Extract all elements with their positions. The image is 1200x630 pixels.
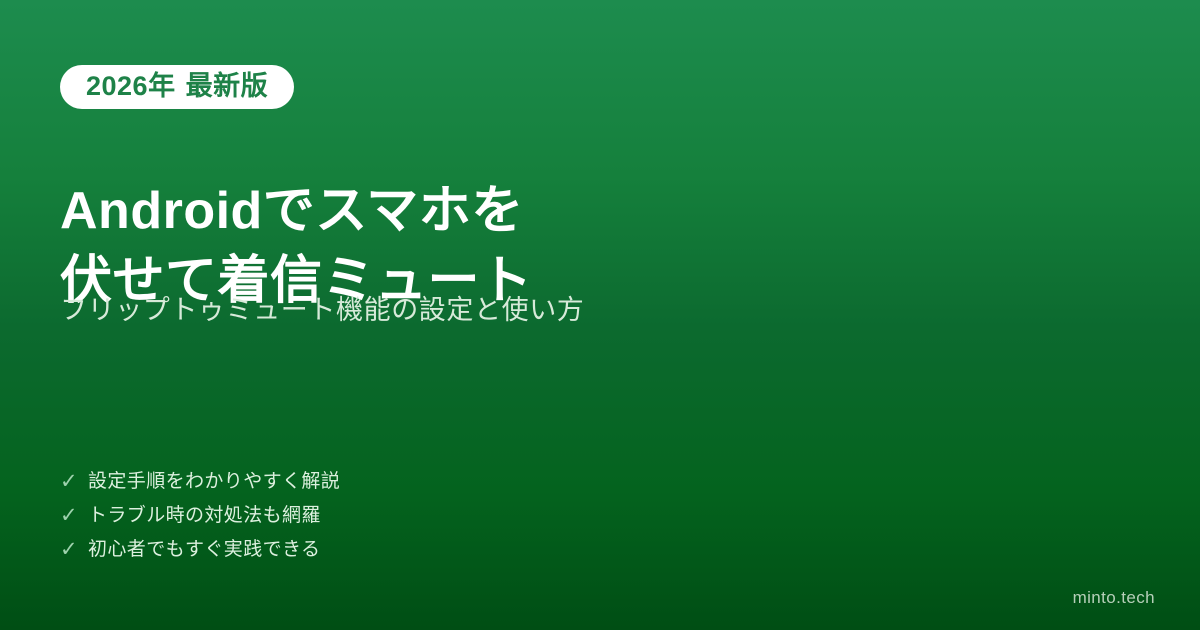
page-title-line-1: Androidでスマホを (60, 176, 533, 246)
list-item-label: トラブル時の対処法も網羅 (88, 504, 321, 528)
check-icon: ✓ (60, 538, 77, 562)
feature-list: ✓ 設定手順をわかりやすく解説 ✓ トラブル時の対処法も網羅 ✓ 初心者でもすぐ… (60, 470, 340, 562)
badge-row: 2026年 最新版 (60, 65, 294, 109)
list-item: ✓ トラブル時の対処法も網羅 (60, 504, 340, 528)
list-item: ✓ 設定手順をわかりやすく解説 (60, 470, 340, 494)
status-badge: 2026年 最新版 (60, 65, 294, 109)
list-item: ✓ 初心者でもすぐ実践できる (60, 538, 340, 562)
page-subtitle: フリップトゥミュート機能の設定と使い方 (60, 292, 584, 328)
check-icon: ✓ (60, 470, 77, 494)
badge-label: 最新版 (186, 72, 269, 100)
og-card: 2026年 最新版 Androidでスマホを 伏せて着信ミュート フリップトゥミ… (0, 0, 1200, 630)
site-watermark: minto.tech (1073, 588, 1155, 608)
list-item-label: 初心者でもすぐ実践できる (88, 538, 320, 562)
list-item-label: 設定手順をわかりやすく解説 (88, 470, 340, 494)
check-icon: ✓ (60, 504, 77, 528)
badge-year: 2026年 (86, 72, 176, 100)
